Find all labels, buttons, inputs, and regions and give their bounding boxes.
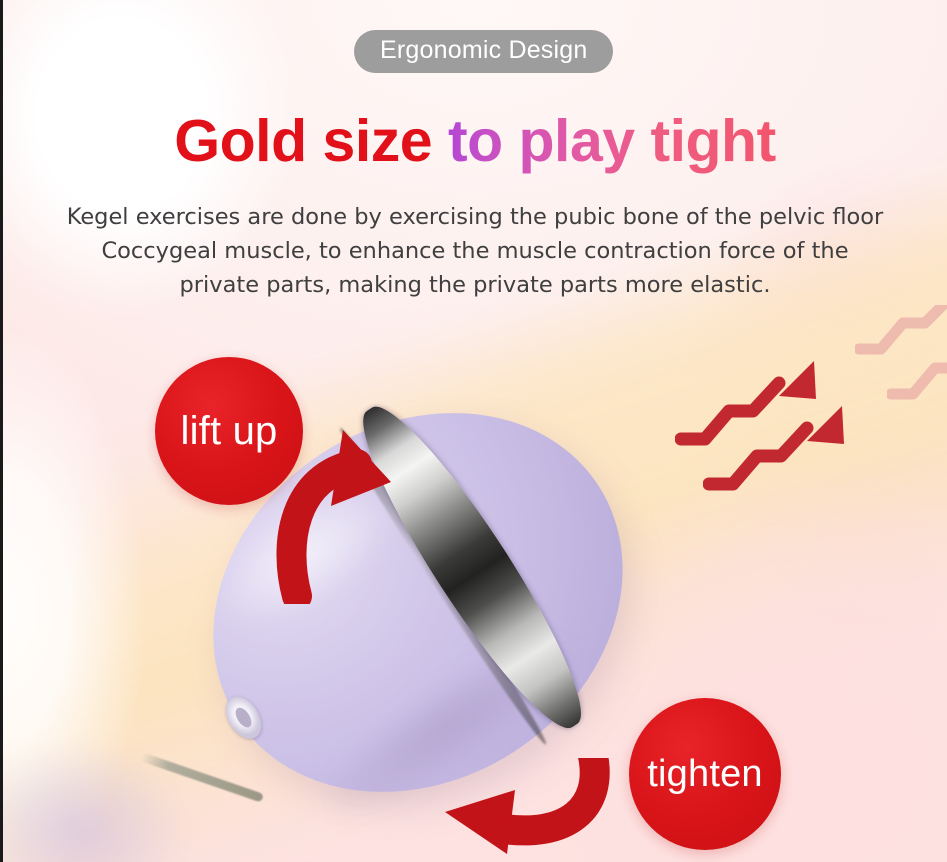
vibration-wave-faint-icon-2 [887,350,947,408]
product-infographic: Ergonomic Design Gold size to play tight… [0,0,947,862]
page-title-primary: Gold size [174,108,432,174]
badge-tighten: tighten [629,698,781,850]
vibration-arrow-icon-2 [703,400,853,505]
description-line-2: Coccygeal muscle, to enhance the muscle … [3,234,947,268]
section-badge: Ergonomic Design [354,30,613,73]
product-cable [140,752,264,802]
badge-tighten-label: tighten [647,755,763,793]
rotate-down-arrow-icon [423,758,638,862]
badge-lift-up-label: lift up [180,411,277,451]
description-line-3: private parts, making the private parts … [3,268,947,302]
page-title: Gold size to play tight [3,112,947,171]
description-text: Kegel exercises are done by exercising t… [3,200,947,302]
page-title-accent: to play tight [448,108,776,174]
badge-lift-up: lift up [155,357,303,505]
description-line-1: Kegel exercises are done by exercising t… [3,200,947,234]
